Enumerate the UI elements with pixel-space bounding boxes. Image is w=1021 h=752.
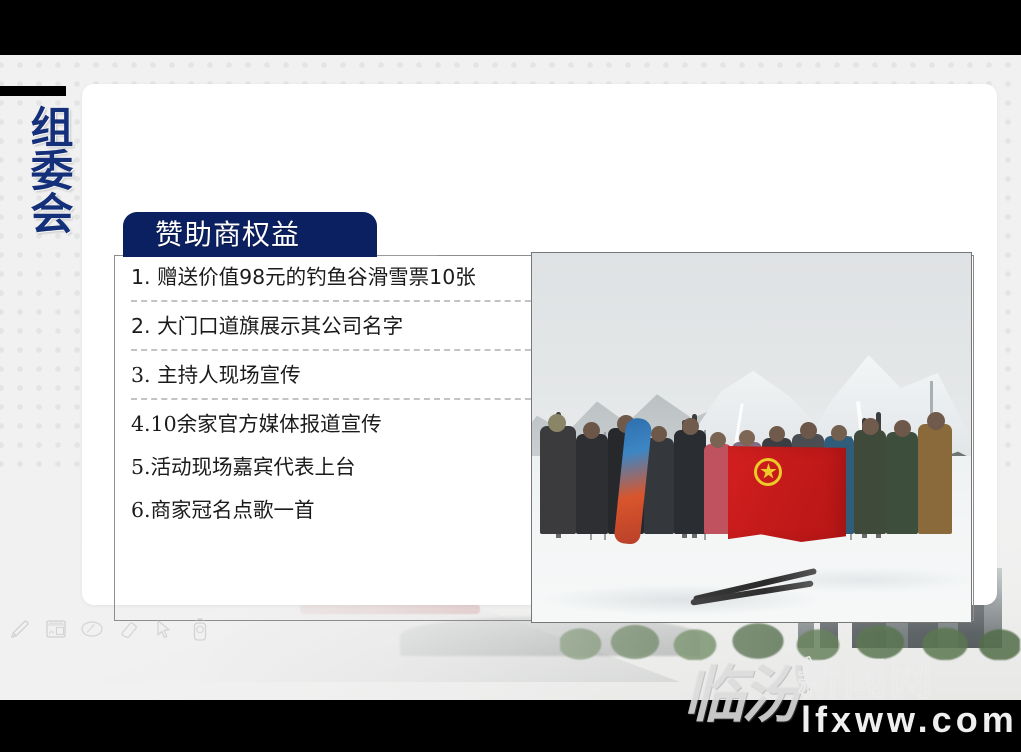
photo-person [704, 444, 732, 534]
benefits-list: 1. 赠送价值98元的钓鱼谷滑雪票10张 2. 大门口道旗展示其公司名字 3. … [131, 265, 541, 527]
list-spacer [131, 484, 541, 498]
section-title-text: 赞助商权益 [155, 221, 300, 249]
pen-icon[interactable] [8, 616, 32, 642]
photo-red-flag [728, 446, 846, 542]
title-banner-rule [377, 255, 437, 256]
photo-person [540, 426, 576, 534]
vertical-section-label: 组委会 [14, 105, 70, 234]
slide-surface: 组委会 赞助商权益 1. 赠送价值98元的钓鱼谷滑雪票10张 2. 大门口道旗展… [0, 55, 1021, 700]
photo-person-head [831, 425, 847, 441]
list-separator [131, 300, 541, 302]
photo-person-head [710, 432, 726, 448]
list-separator [131, 349, 541, 351]
list-item: 3. 主持人现场宣传 [131, 363, 541, 392]
photo-person-head [862, 418, 879, 435]
screenshot-stage: 组委会 赞助商权益 1. 赠送价值98元的钓鱼谷滑雪票10张 2. 大门口道旗展… [0, 0, 1021, 752]
list-item: 6.商家冠名点歌一首 [131, 498, 541, 527]
laser-pointer-icon[interactable] [188, 616, 212, 642]
photo-person-head [769, 426, 785, 442]
list-separator [131, 398, 541, 400]
list-item: 2. 大门口道旗展示其公司名字 [131, 314, 541, 343]
arrow-pointer-icon[interactable] [152, 616, 176, 642]
section-title-banner: 赞助商权益 [123, 212, 377, 257]
letterbox-bottom [0, 700, 1021, 752]
photo-person [886, 432, 918, 534]
list-item: 4.10余家官方媒体报道宣传 [131, 412, 541, 441]
list-spacer [131, 441, 541, 455]
photo-person [674, 430, 706, 534]
black-accent-bar [0, 86, 66, 96]
ski-group-photo [531, 252, 972, 623]
list-item-text: 4.10余家官方媒体报道宣传 [131, 412, 541, 437]
ink-ellipse-icon[interactable] [80, 616, 104, 642]
photo-person-head [800, 422, 817, 439]
photo-person-head [894, 420, 911, 437]
photo-person-head [548, 414, 566, 432]
list-item-text: 3. 主持人现场宣传 [131, 363, 541, 388]
presentation-toolbar[interactable] [8, 616, 212, 642]
list-item: 1. 赠送价值98元的钓鱼谷滑雪票10张 [131, 265, 541, 294]
list-item: 5.活动现场嘉宾代表上台 [131, 455, 541, 484]
photo-person [576, 434, 608, 534]
list-item-text: 5.活动现场嘉宾代表上台 [131, 455, 541, 480]
photo-person-head [682, 418, 699, 435]
letterbox-top [0, 0, 1021, 55]
photo-person-head [927, 412, 945, 430]
photo-person [854, 430, 886, 534]
list-item-text: 2. 大门口道旗展示其公司名字 [131, 314, 541, 339]
eraser-icon[interactable] [116, 616, 140, 642]
list-item-text: 6.商家冠名点歌一首 [131, 498, 541, 523]
slide-navigator-icon[interactable] [44, 616, 68, 642]
list-item-text: 1. 赠送价值98元的钓鱼谷滑雪票10张 [131, 265, 541, 290]
photo-person-head [651, 426, 667, 442]
photo-person-head [739, 430, 755, 446]
photo-person [918, 424, 952, 534]
photo-person-head [583, 422, 600, 439]
